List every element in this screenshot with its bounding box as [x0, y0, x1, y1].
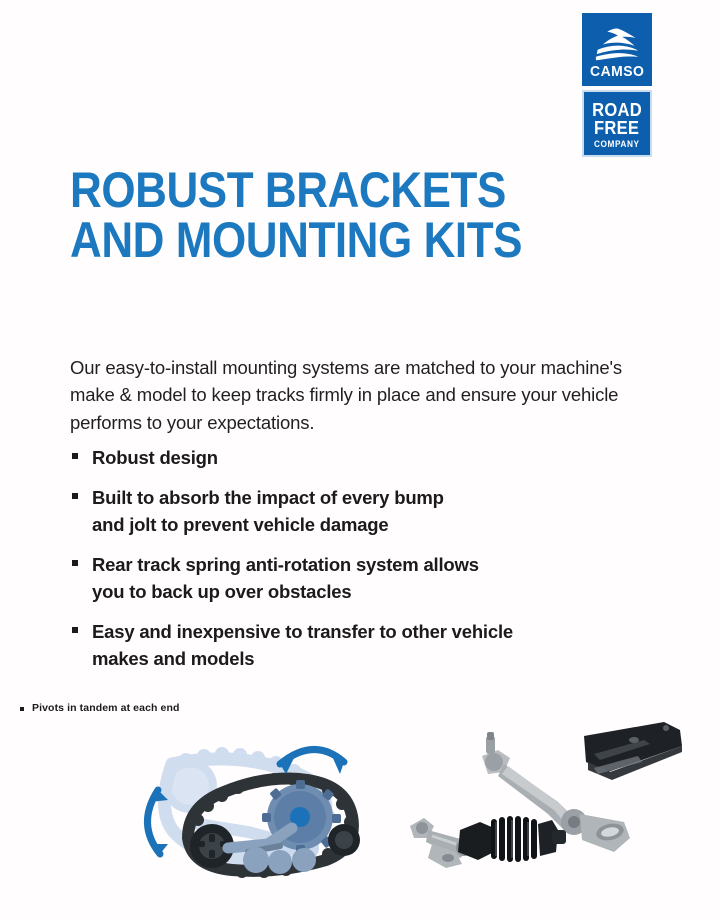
road-free-company-badge: ROAD FREE COMPANY — [582, 90, 652, 157]
square-bullet-icon — [72, 560, 78, 566]
page-title-line-1: ROBUST BRACKETS — [70, 166, 528, 216]
list-item-line: Rear track spring anti-rotation system a… — [92, 552, 645, 578]
illustration-row — [0, 718, 720, 898]
poster-page: CAMSO ROAD FREE COMPANY ROBUST BRACKETS … — [0, 0, 720, 920]
camso-logo-tile: CAMSO — [582, 13, 652, 86]
black-bracket-part — [584, 722, 682, 780]
badge-line-company: COMPANY — [594, 140, 640, 149]
list-item: Built to absorb the impact of every bump… — [70, 485, 645, 538]
square-bullet-icon — [20, 707, 24, 711]
list-item-line: Built to absorb the impact of every bump — [92, 485, 645, 511]
list-item-line: Easy and inexpensive to transfer to othe… — [92, 619, 645, 645]
list-item: Easy and inexpensive to transfer to othe… — [70, 619, 645, 672]
list-item-line: you to back up over obstacles — [92, 579, 645, 605]
camso-chevron-mark-icon — [595, 27, 639, 61]
square-bullet-icon — [72, 493, 78, 499]
badge-line-free: FREE — [594, 120, 639, 138]
mounting-bracket-hardware-photo — [398, 718, 698, 878]
page-title: ROBUST BRACKETS AND MOUNTING KITS — [70, 166, 528, 265]
page-title-line-2: AND MOUNTING KITS — [70, 216, 528, 266]
list-item: Rear track spring anti-rotation system a… — [70, 552, 645, 605]
list-item-line: makes and models — [92, 646, 645, 672]
list-item-line: Robust design — [92, 445, 645, 471]
camso-logo: CAMSO ROAD FREE COMPANY — [582, 13, 652, 157]
list-item-line: and jolt to prevent vehicle damage — [92, 512, 645, 538]
camso-wordmark: CAMSO — [590, 64, 644, 79]
coil-spring-damper-part — [410, 818, 566, 868]
square-bullet-icon — [72, 453, 78, 459]
illustration-caption-text: Pivots in tandem at each end — [32, 702, 180, 714]
square-bullet-icon — [72, 627, 78, 633]
rubber-track-system-diagram — [128, 728, 384, 894]
illustration-caption: Pivots in tandem at each end — [20, 702, 180, 714]
list-item: Robust design — [70, 445, 645, 471]
intro-paragraph: Our easy-to-install mounting systems are… — [70, 354, 635, 436]
feature-bullet-list: Robust design Built to absorb the impact… — [70, 445, 645, 672]
